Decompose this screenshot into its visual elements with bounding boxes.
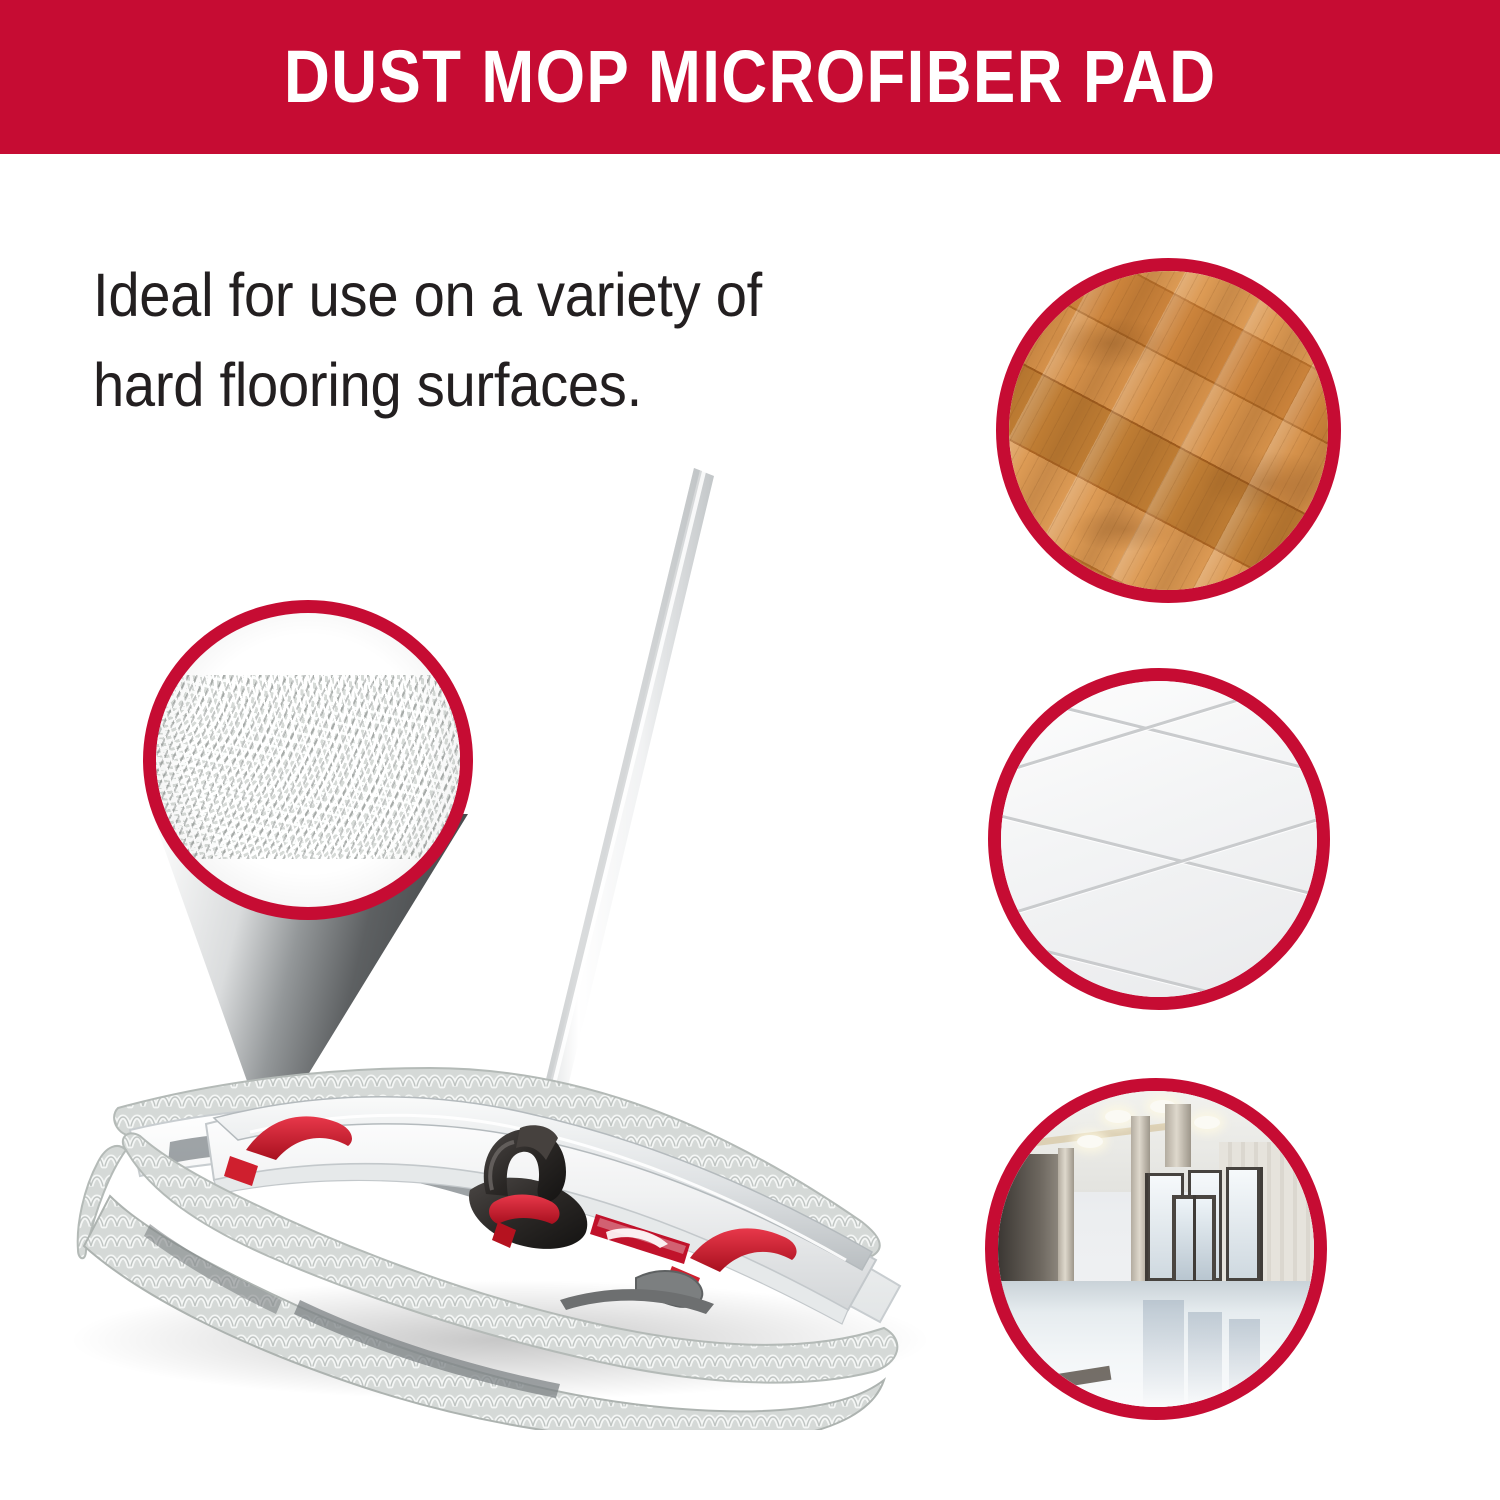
surface-circle-wood-floor xyxy=(996,258,1341,603)
grout-line xyxy=(988,872,1330,1010)
header-banner: DUST MOP MICROFIBER PAD xyxy=(0,0,1500,154)
lobby-column xyxy=(1058,1148,1074,1293)
lobby-glass-bay xyxy=(1226,1167,1261,1281)
lobby-door-mullion xyxy=(1193,1195,1196,1283)
page-title: DUST MOP MICROFIBER PAD xyxy=(284,40,1216,114)
wood-grain-knot xyxy=(1069,506,1179,552)
wood-grain-knot xyxy=(1049,317,1169,369)
microfiber-closeup-circle xyxy=(143,600,473,920)
lobby-door-mullion xyxy=(1260,1167,1263,1281)
lobby-floor-reflection xyxy=(1229,1319,1261,1407)
grout-line xyxy=(988,668,1330,845)
hardwood-floor-photo xyxy=(1009,271,1328,590)
lobby-floor-reflection xyxy=(1188,1312,1223,1407)
lobby-floor-reflection xyxy=(1143,1300,1184,1407)
microfiber-vignette xyxy=(156,613,460,907)
wood-grain-knot xyxy=(1199,451,1339,515)
lobby-door-mullion xyxy=(1145,1173,1148,1280)
grout-line xyxy=(988,748,1330,969)
commercial-lobby-photo xyxy=(998,1091,1314,1407)
lobby-header-beam xyxy=(1165,1104,1190,1167)
tile-floor-photo xyxy=(1001,681,1317,997)
surface-circle-tile-floor xyxy=(988,668,1330,1010)
grout-line xyxy=(988,731,1330,997)
grout-line xyxy=(988,875,1330,1010)
infographic-page: DUST MOP MICROFIBER PAD Ideal for use on… xyxy=(0,0,1500,1500)
surface-circle-lobby-floor xyxy=(985,1078,1327,1420)
